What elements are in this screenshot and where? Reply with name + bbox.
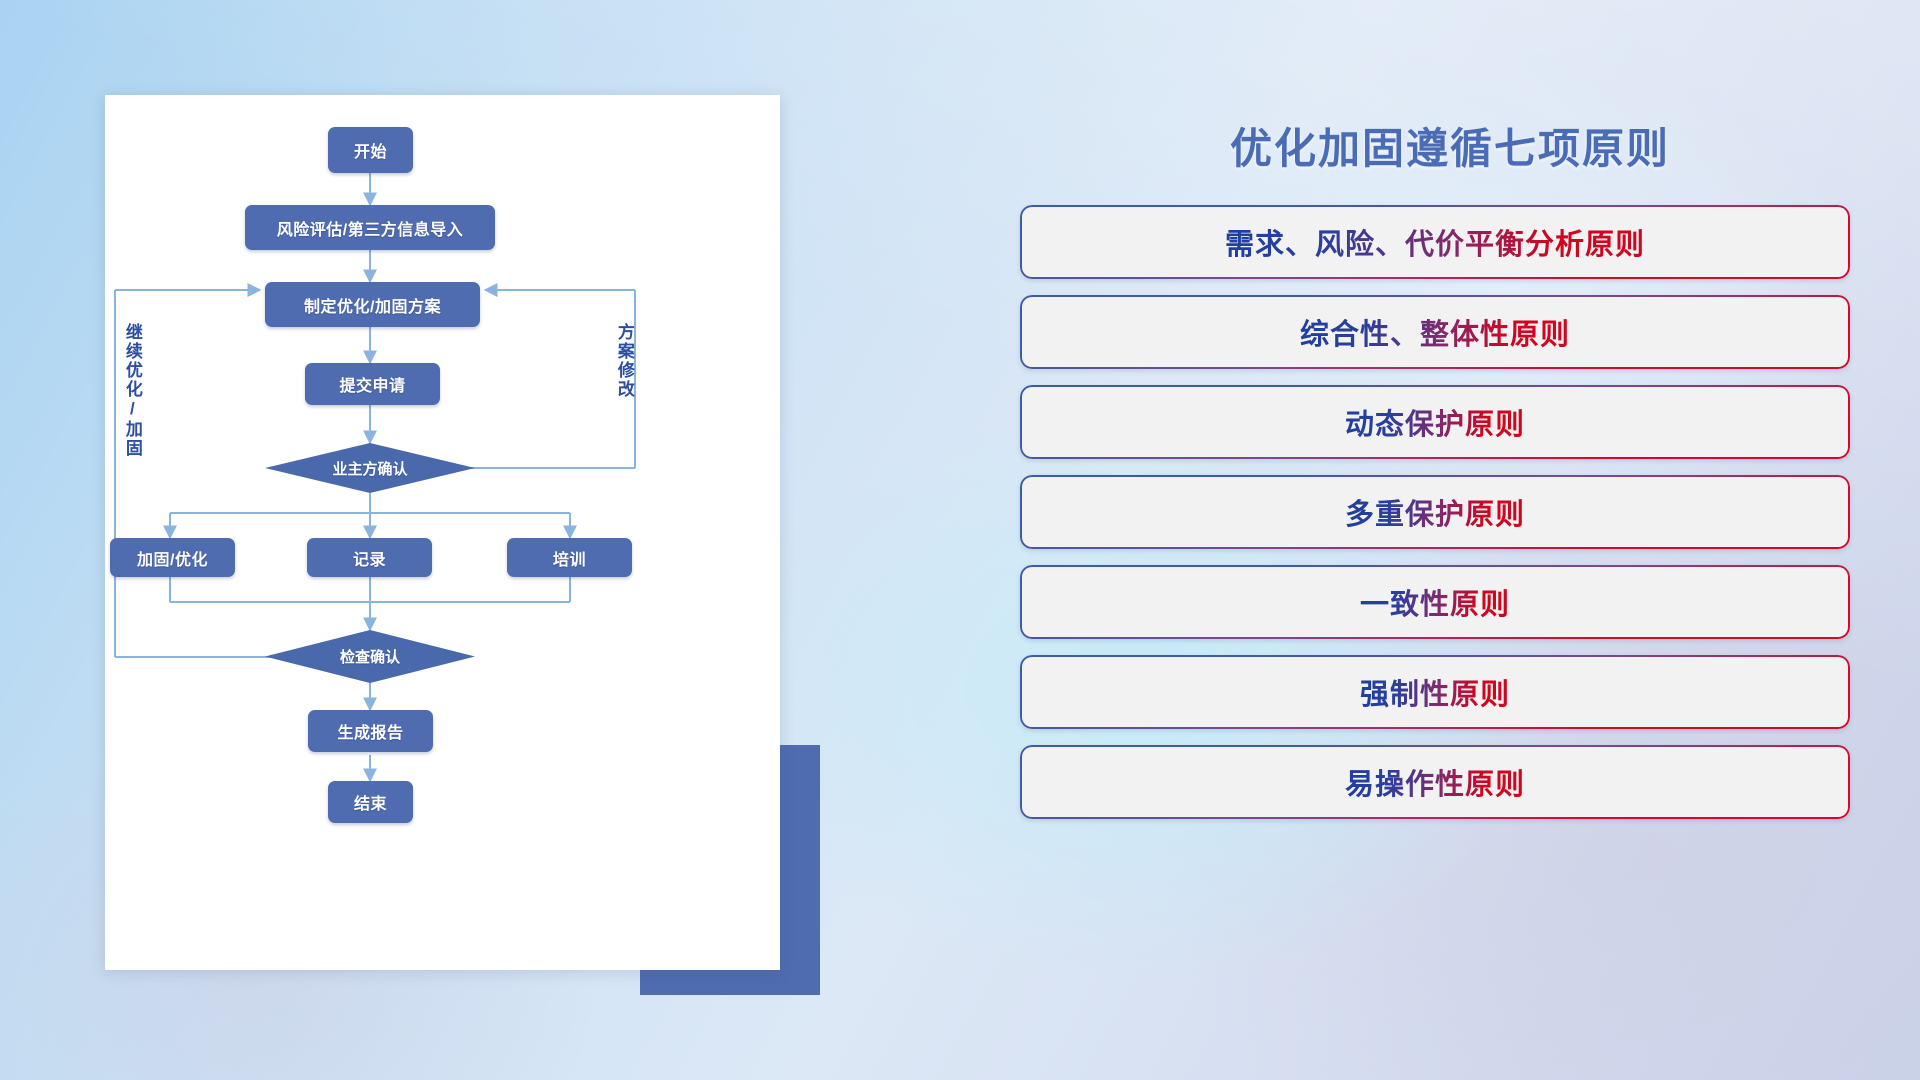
flow-node-reinforce-label: 加固/优化 — [137, 546, 208, 570]
flow-node-generate-report[interactable]: 生成报告 — [308, 710, 433, 752]
principle-label-4: 多重保护原则 — [1345, 491, 1525, 533]
flow-node-training-label: 培训 — [553, 546, 586, 570]
page-title: 优化加固遵循七项原则 — [1150, 115, 1750, 176]
flow-node-risk-assessment-label: 风险评估/第三方信息导入 — [277, 216, 463, 240]
flow-node-submit-application[interactable]: 提交申请 — [305, 363, 440, 405]
flow-node-submit-application-label: 提交申请 — [339, 372, 405, 396]
flow-node-end[interactable]: 结束 — [328, 781, 413, 823]
flow-node-generate-report-label: 生成报告 — [337, 719, 403, 743]
principles-panel: 优化加固遵循七项原则 需求、风险、代价平衡分析原则 综合性、整体性原则 动态保护… — [1020, 90, 1850, 1020]
principle-item-7[interactable]: 易操作性原则 — [1020, 745, 1850, 819]
flow-node-end-label: 结束 — [354, 790, 387, 814]
flow-node-owner-confirm-label: 业主方确认 — [332, 458, 407, 479]
principle-label-6: 强制性原则 — [1360, 671, 1510, 713]
flow-node-start-label: 开始 — [354, 138, 387, 162]
flow-node-record[interactable]: 记录 — [307, 538, 432, 577]
flow-node-check-confirm-label: 检查确认 — [340, 646, 400, 667]
principle-label-1: 需求、风险、代价平衡分析原则 — [1225, 221, 1645, 263]
flow-node-record-label: 记录 — [353, 546, 386, 570]
flowchart-card: 开始 风险评估/第三方信息导入 制定优化/加固方案 提交申请 业主方确认 加固/… — [105, 95, 780, 970]
principle-item-1[interactable]: 需求、风险、代价平衡分析原则 — [1020, 205, 1850, 279]
flow-node-make-plan-label: 制定优化/加固方案 — [304, 293, 441, 317]
principle-item-2[interactable]: 综合性、整体性原则 — [1020, 295, 1850, 369]
principle-item-4[interactable]: 多重保护原则 — [1020, 475, 1850, 549]
flow-node-start[interactable]: 开始 — [328, 127, 413, 173]
flow-node-training[interactable]: 培训 — [507, 538, 632, 577]
principle-label-2: 综合性、整体性原则 — [1300, 311, 1570, 353]
principle-label-3: 动态保护原则 — [1345, 401, 1525, 443]
principle-label-7: 易操作性原则 — [1345, 761, 1525, 803]
principle-label-5: 一致性原则 — [1360, 581, 1510, 623]
flow-edge-label-right-loop: 方案修改 — [615, 323, 633, 399]
principle-list: 需求、风险、代价平衡分析原则 综合性、整体性原则 动态保护原则 多重保护原则 一… — [1020, 205, 1850, 835]
flow-node-reinforce[interactable]: 加固/优化 — [110, 538, 235, 577]
flow-node-make-plan[interactable]: 制定优化/加固方案 — [265, 282, 480, 327]
flow-node-risk-assessment[interactable]: 风险评估/第三方信息导入 — [245, 205, 495, 250]
principle-item-5[interactable]: 一致性原则 — [1020, 565, 1850, 639]
principle-item-6[interactable]: 强制性原则 — [1020, 655, 1850, 729]
flow-edge-label-left-loop: 继续优化/加固 — [123, 323, 141, 458]
principle-item-3[interactable]: 动态保护原则 — [1020, 385, 1850, 459]
